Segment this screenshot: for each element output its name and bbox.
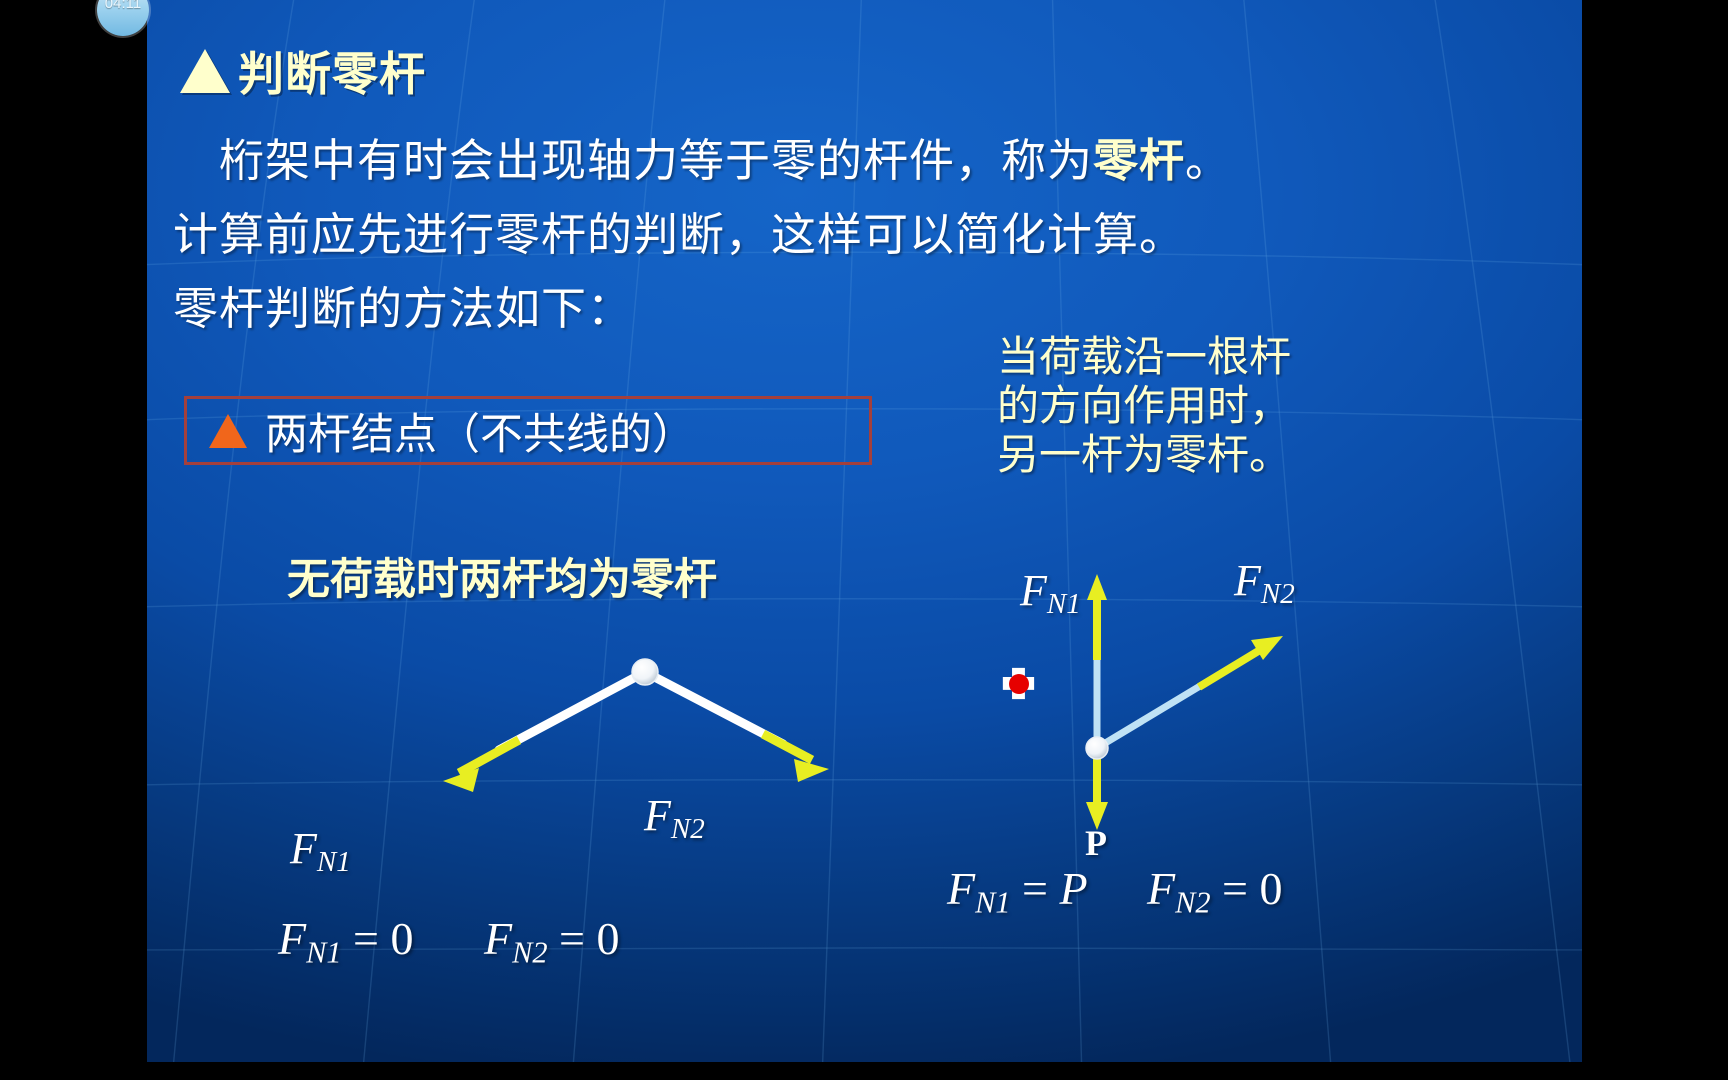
force-arrow-n2 [763,734,829,782]
force-arrow-n1 [443,740,519,792]
eq-rhs: 0 [1260,863,1283,914]
force-label-n1-right: FN1 [1020,565,1081,621]
paragraph-line-2: 计算前应先进行零杆的判断，这样可以简化计算。 [173,198,1185,263]
right-note-block: 当荷载沿一根杆 的方向作用时， 另一杆为零杆。 [997,332,1377,479]
right-note-line-2: 的方向作用时， [997,381,1377,430]
right-note-line-3: 另一杆为零杆。 [997,430,1377,479]
force-arrow-n1-right [1087,574,1107,660]
right-note-line-1: 当荷载沿一根杆 [997,332,1377,381]
force-symbol: F [644,791,671,840]
eq-lhs-sub: N2 [1175,886,1210,920]
force-label-n1-left: FN1 [290,823,351,879]
joint-node [1086,737,1108,759]
force-label-n2-left: FN2 [644,790,705,846]
eq-lhs: F [1147,863,1175,914]
slide-title-text: 判断零杆 [238,38,426,104]
paragraph-line-1-suffix: 。 [1185,134,1231,187]
two-bar-joint-no-load-diagram [267,630,887,830]
two-bar-joint-load-along-bar-diagram [947,540,1367,870]
eq-operator: = [559,913,585,964]
paragraph-line-3: 零杆判断的方法如下： [173,272,633,337]
bottom-black-bar [0,1062,1728,1080]
eq-lhs-sub: N1 [975,886,1010,920]
force-subscript: N2 [671,813,705,845]
paragraph-line-1-prefix: 桁架中有时会出现轴力等于零的杆件，称为 [173,134,1093,187]
load-label-p: P [1085,822,1107,864]
method-highlight-box[interactable]: 两杆结点（不共线的） [184,396,872,465]
eq-lhs: F [278,913,306,964]
equation-left-2: FN2 = 0 [484,912,620,971]
force-arrow-n2-right [1199,636,1283,687]
method-box-label: 两杆结点（不共线的） [265,400,695,462]
force-subscript: N2 [1261,578,1295,610]
equation-left-1: FN1 = 0 [278,912,414,971]
presentation-slide[interactable]: 判断零杆 桁架中有时会出现轴力等于零的杆件，称为零杆。 计算前应先进行零杆的判断… [147,0,1582,1062]
joint-node [632,659,658,685]
eq-lhs-sub: N1 [306,936,341,970]
eq-rhs: 0 [597,913,620,964]
paragraph-line-1: 桁架中有时会出现轴力等于零的杆件，称为零杆。 [173,124,1231,189]
screen-root: 判断零杆 桁架中有时会出现轴力等于零的杆件，称为零杆。 计算前应先进行零杆的判断… [0,0,1728,1080]
force-symbol: F [290,824,317,873]
bar-left [499,672,645,750]
eq-rhs: 0 [391,913,414,964]
equation-right-2: FN2 = 0 [1147,862,1283,921]
timer-badge-label: 04:11 [105,0,141,12]
force-subscript: N1 [317,846,351,878]
force-symbol: F [1234,556,1261,605]
left-black-gutter [0,0,147,1062]
eq-rhs: P [1060,863,1088,914]
equation-right-1: FN1 = P [947,862,1088,921]
slide-title: 判断零杆 [180,38,426,104]
force-subscript: N1 [1047,588,1081,620]
force-symbol: F [1020,566,1047,615]
left-diagram-caption: 无荷载时两杆均为零杆 [287,545,717,607]
eq-operator: = [1222,863,1248,914]
eq-operator: = [353,913,379,964]
right-black-gutter [1582,0,1728,1062]
bar-right [645,672,783,744]
load-arrow-p [1086,748,1108,830]
triangle-up-icon [180,49,230,93]
eq-lhs-sub: N2 [512,936,547,970]
eq-operator: = [1022,863,1048,914]
eq-lhs: F [947,863,975,914]
force-label-n2-right: FN2 [1234,555,1295,611]
eq-lhs: F [484,913,512,964]
paragraph-line-1-highlight: 零杆 [1093,134,1185,187]
triangle-up-filled-icon [209,414,247,448]
